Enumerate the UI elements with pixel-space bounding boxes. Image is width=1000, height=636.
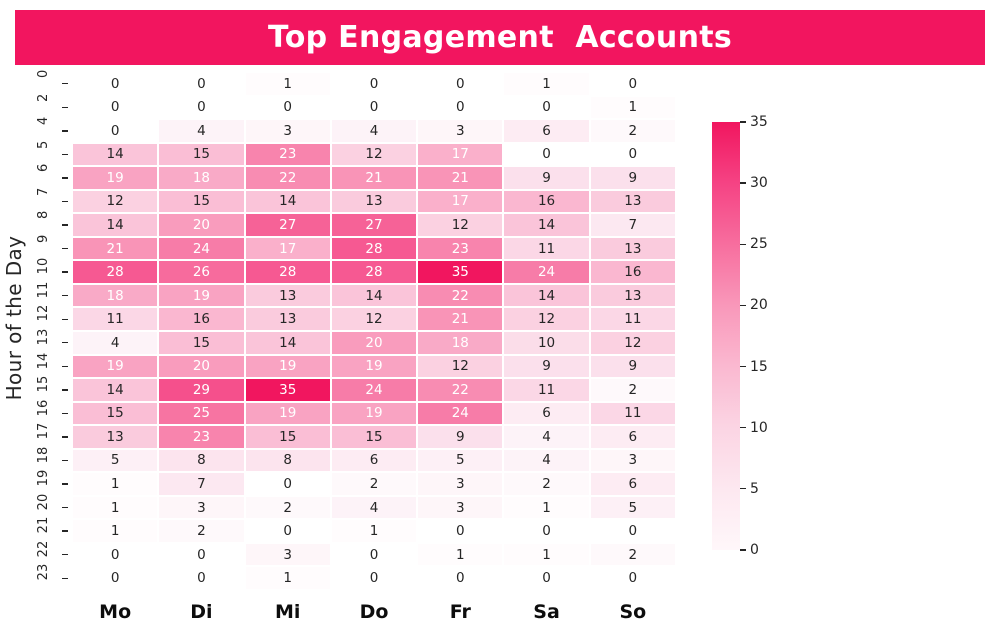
heatmap-cell-value: 1: [283, 570, 292, 586]
heatmap-cell-value: 20: [193, 358, 210, 374]
heatmap-cell: 4: [331, 119, 417, 143]
heatmap-cell: 19: [331, 402, 417, 426]
heatmap-cell: 3: [158, 496, 244, 520]
heatmap-cell-value: 4: [542, 452, 551, 468]
heatmap-cell: 6: [331, 449, 417, 473]
heatmap-cell-value: 19: [365, 358, 382, 374]
heatmap-cell: 15: [245, 425, 331, 449]
heatmap-cell-value: 0: [283, 99, 292, 115]
heatmap-cell: 5: [590, 496, 676, 520]
heatmap-cell-value: 6: [542, 123, 551, 139]
heatmap-cell: 0: [158, 96, 244, 120]
colorbar-tick: 15: [740, 359, 768, 375]
heatmap-cell: 12: [331, 143, 417, 167]
heatmap-cell-value: 13: [365, 193, 382, 209]
heatmap-cell-value: 21: [107, 241, 124, 257]
heatmap-cell: 12: [331, 307, 417, 331]
heatmap-cell-value: 24: [452, 405, 469, 421]
heatmap-cell: 9: [417, 425, 503, 449]
heatmap-cell: 19: [158, 284, 244, 308]
heatmap-cell: 14: [331, 284, 417, 308]
heatmap-cell-value: 6: [629, 476, 638, 492]
heatmap-cell-value: 0: [197, 99, 206, 115]
heatmap-cell-value: 8: [197, 452, 206, 468]
heatmap-cell: 22: [417, 284, 503, 308]
heatmap-cell: 2: [245, 496, 331, 520]
heatmap-cell: 1: [72, 519, 158, 543]
heatmap-cell-value: 24: [365, 382, 382, 398]
heatmap-cell-value: 24: [193, 241, 210, 257]
heatmap-cell-value: 5: [629, 500, 638, 516]
heatmap-cell: 20: [331, 331, 417, 355]
heatmap-cell-value: 1: [370, 523, 379, 539]
heatmap-cell: 7: [590, 213, 676, 237]
colorbar-tick: 0: [740, 542, 759, 558]
heatmap-cell: 0: [417, 72, 503, 96]
heatmap-cell: 14: [245, 190, 331, 214]
heatmap-cell-value: 0: [111, 99, 120, 115]
heatmap-cell-value: 6: [542, 405, 551, 421]
heatmap-cell-value: 22: [452, 382, 469, 398]
y-axis-tick-labels: 024567891011121314151617181920212223: [30, 72, 58, 590]
heatmap-cell-value: 2: [197, 523, 206, 539]
colorbar-tick-label: 5: [750, 481, 759, 497]
y-axis-tick-mark: [62, 425, 71, 449]
heatmap-cell-value: 13: [624, 193, 641, 209]
page-title: Top Engagement Accounts: [268, 20, 732, 55]
heatmap-cell-value: 22: [452, 288, 469, 304]
heatmap-cell-value: 1: [111, 476, 120, 492]
heatmap-cell: 13: [590, 284, 676, 308]
heatmap-cell: 2: [590, 119, 676, 143]
heatmap-cell: 25: [158, 402, 244, 426]
heatmap-cell-value: 1: [111, 500, 120, 516]
heatmap-cell-value: 16: [624, 264, 641, 280]
heatmap-cell: 11: [503, 237, 589, 261]
heatmap-cell: 0: [590, 566, 676, 590]
heatmap-cell: 3: [417, 472, 503, 496]
heatmap-cell: 3: [245, 119, 331, 143]
colorbar-tick-label: 20: [750, 297, 768, 313]
x-axis-tick-label: Do: [331, 596, 417, 628]
y-axis-tick-mark: [62, 143, 71, 167]
heatmap-cell-value: 2: [629, 547, 638, 563]
heatmap-cell-value: 0: [111, 547, 120, 563]
heatmap-cell: 17: [245, 237, 331, 261]
heatmap-cell-value: 6: [370, 452, 379, 468]
heatmap-cell: 1: [72, 472, 158, 496]
heatmap-cell-value: 0: [197, 570, 206, 586]
heatmap-cell-value: 28: [365, 264, 382, 280]
colorbar-tick-label: 10: [750, 420, 768, 436]
heatmap-cell: 21: [417, 307, 503, 331]
heatmap-cell-value: 12: [452, 358, 469, 374]
heatmap-cell: 1: [503, 72, 589, 96]
heatmap-cell: 26: [158, 260, 244, 284]
colorbar-tick-label: 15: [750, 359, 768, 375]
heatmap-cell-value: 18: [107, 288, 124, 304]
heatmap-cell-value: 24: [538, 264, 555, 280]
heatmap-cell-value: 21: [452, 170, 469, 186]
heatmap-cell: 14: [72, 143, 158, 167]
heatmap-cell-value: 9: [542, 170, 551, 186]
heatmap-cell-value: 11: [538, 382, 555, 398]
y-axis-tick-mark: [62, 213, 71, 237]
heatmap-cell: 0: [590, 143, 676, 167]
heatmap-cell-value: 2: [283, 500, 292, 516]
y-axis-tick-mark: [62, 402, 71, 426]
heatmap-cell: 0: [331, 96, 417, 120]
heatmap-cell: 0: [331, 566, 417, 590]
heatmap-cell-value: 5: [456, 452, 465, 468]
heatmap-cell-value: 0: [629, 523, 638, 539]
y-axis-tick-mark: [62, 472, 71, 496]
heatmap-cell-value: 15: [193, 193, 210, 209]
heatmap-cell: 0: [331, 543, 417, 567]
heatmap-cell: 15: [158, 331, 244, 355]
heatmap-cell: 24: [503, 260, 589, 284]
x-axis-tick-label: Mo: [72, 596, 158, 628]
heatmap-cell: 20: [158, 355, 244, 379]
heatmap-figure: Top Engagement Accounts Hour of the Day …: [0, 0, 1000, 636]
heatmap-cell: 15: [331, 425, 417, 449]
heatmap-cell-value: 0: [542, 146, 551, 162]
heatmap-cell-value: 13: [107, 429, 124, 445]
heatmap-cell-value: 15: [365, 429, 382, 445]
heatmap-cell: 4: [503, 449, 589, 473]
heatmap-cell-value: 35: [452, 264, 469, 280]
heatmap-cell: 16: [590, 260, 676, 284]
heatmap-cell: 0: [417, 519, 503, 543]
heatmap-cell: 19: [331, 355, 417, 379]
heatmap-cell-value: 9: [629, 170, 638, 186]
colorbar: 05101520253035: [712, 122, 832, 550]
y-axis-tick-mark: [62, 119, 71, 143]
heatmap-cell-value: 13: [624, 288, 641, 304]
heatmap-cell-value: 0: [456, 76, 465, 92]
x-axis-tick-label: Fr: [417, 596, 503, 628]
heatmap-cell-value: 12: [538, 311, 555, 327]
heatmap-cell-value: 14: [365, 288, 382, 304]
heatmap-grid: 0010010000000104343621415231217001918222…: [72, 72, 676, 590]
heatmap-cell: 9: [503, 355, 589, 379]
y-axis-tick-mark: [62, 496, 71, 520]
heatmap-cell-value: 3: [197, 500, 206, 516]
heatmap-cell: 35: [245, 378, 331, 402]
heatmap-cell: 0: [503, 96, 589, 120]
heatmap-cell: 0: [72, 119, 158, 143]
colorbar-tick-label: 35: [750, 114, 768, 130]
y-axis-tick-mark: [62, 307, 71, 331]
heatmap-cell-value: 11: [624, 405, 641, 421]
y-axis-tick-mark: [62, 355, 71, 379]
heatmap-cell-value: 12: [365, 311, 382, 327]
heatmap-cell: 0: [72, 72, 158, 96]
heatmap-cell: 24: [417, 402, 503, 426]
heatmap-cell: 4: [158, 119, 244, 143]
colorbar-tick: 25: [740, 236, 768, 252]
heatmap-cell: 19: [72, 355, 158, 379]
heatmap-cell-value: 14: [107, 382, 124, 398]
heatmap-cell: 4: [503, 425, 589, 449]
heatmap-cell: 3: [417, 119, 503, 143]
heatmap-cell-value: 18: [193, 170, 210, 186]
heatmap-cell: 21: [417, 166, 503, 190]
heatmap-cell: 1: [72, 496, 158, 520]
heatmap-cell: 24: [158, 237, 244, 261]
heatmap-cell-value: 1: [111, 523, 120, 539]
x-axis-tick-label: Di: [158, 596, 244, 628]
heatmap-cell-value: 0: [456, 523, 465, 539]
heatmap-cell: 6: [503, 119, 589, 143]
heatmap-cell: 0: [245, 96, 331, 120]
y-axis-tick-mark: [62, 96, 71, 120]
heatmap-cell: 14: [503, 213, 589, 237]
heatmap-cell-value: 0: [542, 99, 551, 115]
y-axis-tick-mark: [62, 237, 71, 261]
heatmap-cell: 14: [72, 213, 158, 237]
heatmap-cell-value: 3: [629, 452, 638, 468]
y-axis-tick-mark: [62, 543, 71, 567]
heatmap-cell: 0: [158, 72, 244, 96]
colorbar-tick-labels: 05101520253035: [740, 122, 830, 550]
heatmap-cell-value: 4: [111, 335, 120, 351]
heatmap-cell: 15: [72, 402, 158, 426]
heatmap-cell: 8: [158, 449, 244, 473]
heatmap-cell: 13: [590, 237, 676, 261]
heatmap-cell: 0: [503, 519, 589, 543]
heatmap-cell-value: 0: [370, 570, 379, 586]
heatmap-cell-value: 29: [193, 382, 210, 398]
heatmap-cell-value: 7: [629, 217, 638, 233]
heatmap-cell: 2: [503, 472, 589, 496]
heatmap-cell: 13: [245, 284, 331, 308]
heatmap-cell-value: 1: [542, 500, 551, 516]
heatmap-cell: 10: [503, 331, 589, 355]
heatmap-cell-value: 28: [107, 264, 124, 280]
heatmap-cell: 19: [72, 166, 158, 190]
colorbar-tick: 20: [740, 297, 768, 313]
heatmap-cell-value: 1: [542, 76, 551, 92]
heatmap-cell: 1: [245, 566, 331, 590]
x-axis-tick-labels: MoDiMiDoFrSaSo: [72, 596, 676, 628]
heatmap-cell-value: 4: [370, 123, 379, 139]
heatmap-cell-value: 15: [193, 335, 210, 351]
heatmap-cell: 14: [72, 378, 158, 402]
y-axis-tick-mark: [62, 190, 71, 214]
heatmap-cell-value: 0: [456, 99, 465, 115]
heatmap-cell: 13: [331, 190, 417, 214]
heatmap-cell: 27: [331, 213, 417, 237]
heatmap-cell-value: 20: [193, 217, 210, 233]
heatmap-cell-value: 8: [283, 452, 292, 468]
heatmap-cell-value: 0: [370, 76, 379, 92]
heatmap-cell-value: 0: [111, 570, 120, 586]
heatmap-cell: 6: [590, 472, 676, 496]
heatmap-cell: 29: [158, 378, 244, 402]
heatmap-cell-value: 4: [542, 429, 551, 445]
heatmap-cell: 2: [590, 543, 676, 567]
heatmap-cell: 2: [158, 519, 244, 543]
heatmap-cell-value: 0: [197, 547, 206, 563]
x-axis-tick-label: Mi: [245, 596, 331, 628]
heatmap-cell: 14: [245, 331, 331, 355]
heatmap-cell: 6: [503, 402, 589, 426]
heatmap-cell-value: 1: [283, 76, 292, 92]
heatmap-cell: 1: [331, 519, 417, 543]
heatmap-cell: 0: [72, 543, 158, 567]
heatmap-cell-value: 15: [193, 146, 210, 162]
y-axis-tick-mark: [62, 260, 71, 284]
y-axis-tick-marks: [62, 72, 71, 590]
heatmap-cell-value: 23: [452, 241, 469, 257]
heatmap-cell: 12: [503, 307, 589, 331]
heatmap-cell: 18: [158, 166, 244, 190]
heatmap-cell-value: 2: [629, 382, 638, 398]
heatmap-cell: 13: [590, 190, 676, 214]
heatmap-cell: 0: [158, 543, 244, 567]
heatmap-cell: 24: [331, 378, 417, 402]
heatmap-cell: 1: [245, 72, 331, 96]
heatmap-cell: 0: [503, 143, 589, 167]
colorbar-tick-label: 30: [750, 175, 768, 191]
heatmap-cell: 14: [503, 284, 589, 308]
heatmap-cell: 2: [590, 378, 676, 402]
heatmap-cell: 7: [158, 472, 244, 496]
heatmap-cell-value: 14: [279, 335, 296, 351]
y-axis-tick-mark: [62, 378, 71, 402]
heatmap-cell-value: 13: [279, 311, 296, 327]
heatmap-cell: 23: [417, 237, 503, 261]
heatmap-cell-value: 0: [542, 523, 551, 539]
heatmap-cell-value: 3: [456, 500, 465, 516]
heatmap-cell: 0: [245, 519, 331, 543]
y-axis-tick-mark: [62, 566, 71, 590]
heatmap-cell-value: 7: [197, 476, 206, 492]
heatmap-cell: 1: [503, 496, 589, 520]
heatmap-cell-value: 9: [542, 358, 551, 374]
heatmap-cell-value: 3: [283, 123, 292, 139]
heatmap-cell: 11: [503, 378, 589, 402]
heatmap-cell: 1: [590, 96, 676, 120]
heatmap-cell: 27: [245, 213, 331, 237]
heatmap-cell-value: 11: [107, 311, 124, 327]
heatmap-cell: 13: [72, 425, 158, 449]
heatmap-cell: 28: [331, 237, 417, 261]
heatmap-cell: 11: [590, 402, 676, 426]
heatmap-cell: 16: [503, 190, 589, 214]
heatmap-cell-value: 0: [370, 99, 379, 115]
heatmap-cell: 21: [331, 166, 417, 190]
heatmap-cell-value: 2: [542, 476, 551, 492]
heatmap-cell-value: 0: [629, 146, 638, 162]
heatmap-cell-value: 10: [538, 335, 555, 351]
heatmap-cell-value: 1: [456, 547, 465, 563]
x-axis-tick-label: So: [590, 596, 676, 628]
colorbar-tick: 30: [740, 175, 768, 191]
heatmap-cell: 35: [417, 260, 503, 284]
heatmap-cell: 13: [245, 307, 331, 331]
heatmap-cell: 15: [158, 190, 244, 214]
heatmap-cell-value: 27: [279, 217, 296, 233]
heatmap-cell: 0: [503, 566, 589, 590]
heatmap-cell: 28: [245, 260, 331, 284]
heatmap-cell-value: 35: [279, 382, 296, 398]
heatmap-cell-value: 16: [193, 311, 210, 327]
heatmap-cell: 12: [72, 190, 158, 214]
y-axis-title: Hour of the Day: [0, 0, 28, 636]
y-axis-tick-mark: [62, 72, 71, 96]
heatmap-cell-value: 0: [629, 76, 638, 92]
heatmap-cell: 18: [417, 331, 503, 355]
heatmap-cell-value: 0: [283, 476, 292, 492]
heatmap-cell-value: 0: [542, 570, 551, 586]
heatmap-cell: 0: [245, 472, 331, 496]
heatmap-cell-value: 5: [111, 452, 120, 468]
heatmap-cell-value: 14: [107, 146, 124, 162]
heatmap-cell: 0: [590, 72, 676, 96]
heatmap-cell: 28: [72, 260, 158, 284]
heatmap-cell: 8: [245, 449, 331, 473]
heatmap-cell-value: 19: [365, 405, 382, 421]
heatmap-cell-value: 28: [365, 241, 382, 257]
heatmap-cell: 22: [417, 378, 503, 402]
heatmap-cell-value: 13: [624, 241, 641, 257]
heatmap-cell-value: 25: [193, 405, 210, 421]
heatmap-cell-value: 21: [365, 170, 382, 186]
heatmap-cell-value: 19: [107, 358, 124, 374]
heatmap-cell: 0: [72, 96, 158, 120]
heatmap-cell-value: 16: [538, 193, 555, 209]
heatmap-cell: 1: [417, 543, 503, 567]
heatmap-cell-value: 1: [542, 547, 551, 563]
colorbar-tick: 5: [740, 481, 759, 497]
heatmap-cell: 17: [417, 190, 503, 214]
heatmap-cell-value: 11: [624, 311, 641, 327]
heatmap-cell: 5: [72, 449, 158, 473]
heatmap-cell-value: 0: [111, 123, 120, 139]
heatmap-cell-value: 19: [279, 405, 296, 421]
heatmap-cell-value: 14: [538, 288, 555, 304]
heatmap-plot-area: 0010010000000104343621415231217001918222…: [72, 72, 676, 590]
y-axis-tick-mark: [62, 449, 71, 473]
heatmap-cell-value: 19: [279, 358, 296, 374]
heatmap-cell: 0: [590, 519, 676, 543]
heatmap-cell-value: 23: [193, 429, 210, 445]
heatmap-cell: 9: [503, 166, 589, 190]
title-banner: Top Engagement Accounts: [15, 10, 985, 65]
heatmap-cell: 22: [245, 166, 331, 190]
colorbar-tick-label: 25: [750, 236, 768, 252]
y-axis-tick-mark: [62, 331, 71, 355]
y-axis-tick-mark: [62, 284, 71, 308]
heatmap-cell-value: 12: [365, 146, 382, 162]
heatmap-cell: 0: [417, 566, 503, 590]
y-axis-tick-mark: [62, 166, 71, 190]
heatmap-cell: 16: [158, 307, 244, 331]
heatmap-cell-value: 2: [629, 123, 638, 139]
heatmap-cell: 20: [158, 213, 244, 237]
heatmap-cell-value: 4: [370, 500, 379, 516]
heatmap-cell: 18: [72, 284, 158, 308]
heatmap-cell: 23: [245, 143, 331, 167]
heatmap-cell-value: 3: [456, 476, 465, 492]
heatmap-cell: 0: [417, 96, 503, 120]
heatmap-cell: 5: [417, 449, 503, 473]
heatmap-cell-value: 23: [279, 146, 296, 162]
colorbar-tick: 35: [740, 114, 768, 130]
heatmap-cell: 12: [417, 355, 503, 379]
